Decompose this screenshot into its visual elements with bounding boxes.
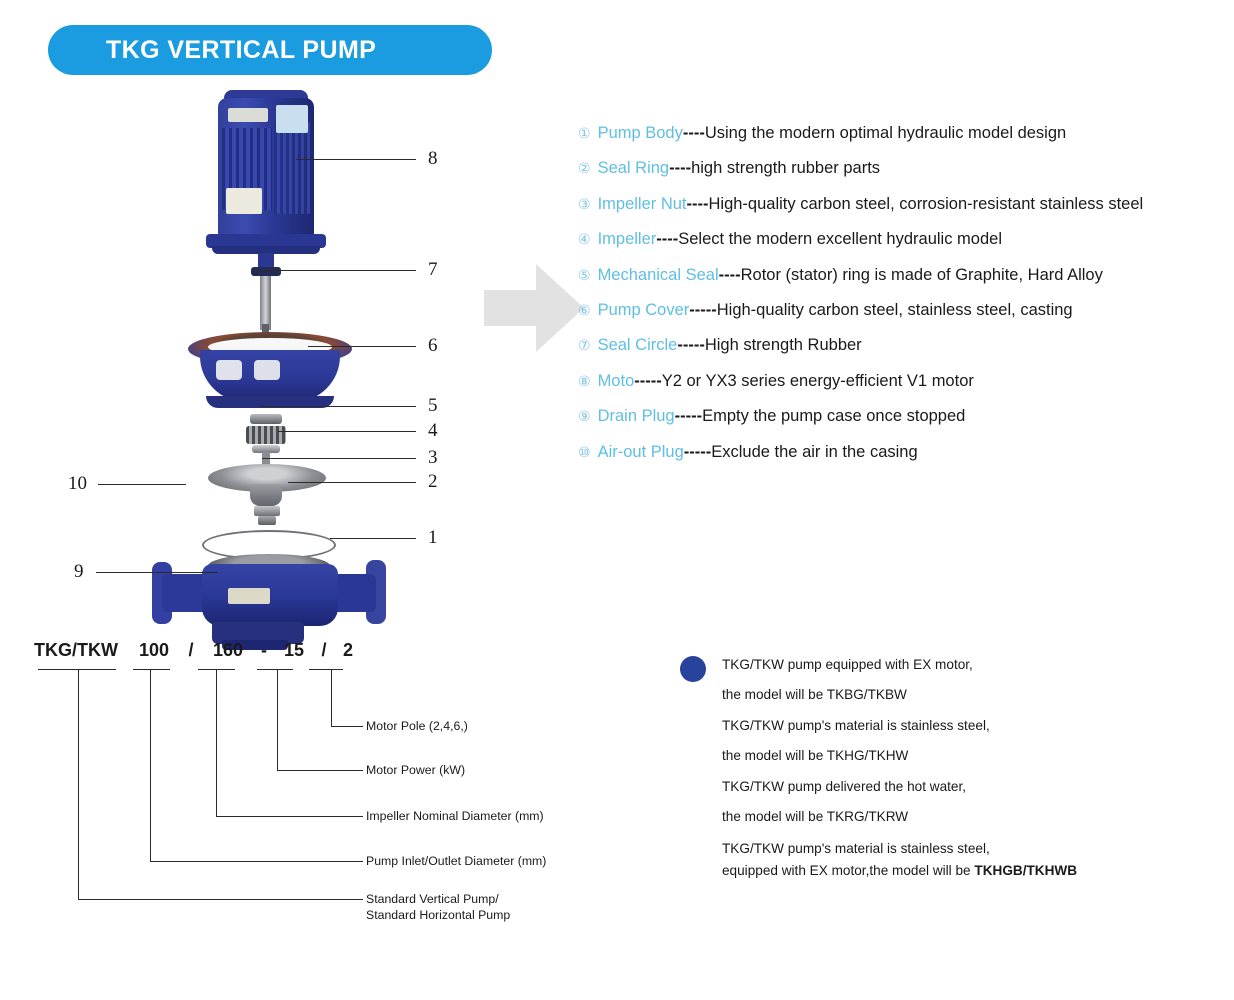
model-desc-series-2: Standard Horizontal Pump: [366, 907, 510, 923]
model-desc-pole: Motor Pole (2,4,6,): [366, 718, 468, 734]
note-line: TKG/TKW pump equipped with EX motor,: [722, 650, 1220, 680]
callout-number-2: 2: [428, 471, 438, 493]
motor-terminal-box: [226, 188, 262, 214]
legend-part-name: Moto: [598, 372, 635, 391]
legend-item: ⑦ Seal Circle ----- High strength Rubber: [578, 336, 1228, 355]
impeller-hub: [250, 484, 282, 506]
callout-number-3: 3: [428, 447, 438, 469]
callout-number-9: 9: [74, 561, 84, 583]
callout-line-10: [98, 484, 186, 485]
legend-description: High strength Rubber: [705, 336, 862, 355]
page-title-banner: TKG VERTICAL PUMP: [48, 25, 492, 75]
legend-number: ⑩: [578, 445, 591, 459]
pump-cover-window-right: [254, 360, 280, 380]
note-line: TKG/TKW pump's material is stainless ste…: [722, 711, 1220, 741]
legend-number: ③: [578, 197, 591, 211]
legend-description: Y2 or YX3 series energy-efficient V1 mot…: [662, 372, 974, 391]
leader-run-inlet: [150, 861, 363, 862]
motor-cooling-fins-right: [274, 122, 310, 214]
legend-dash: -----: [634, 372, 661, 391]
legend-part-name: Drain Plug: [598, 407, 675, 426]
callout-line-3: [262, 458, 416, 459]
callout-line-5: [258, 406, 416, 407]
legend-item: ④ Impeller ---- Select the modern excell…: [578, 230, 1228, 249]
model-desc-series-1: Standard Vertical Pump/: [366, 891, 499, 907]
note-line: the model will be TKHG/TKHW: [722, 741, 1220, 771]
legend-description: High-quality carbon steel, stainless ste…: [717, 301, 1073, 320]
legend-item: ⑤ Mechanical Seal ---- Rotor (stator) ri…: [578, 266, 1228, 285]
callout-line-2: [288, 482, 416, 483]
note-line: TKG/TKW pump's material is stainless ste…: [722, 838, 1220, 860]
legend-dash: -----: [689, 301, 716, 320]
callout-number-1: 1: [428, 527, 438, 549]
model-variant-notes: TKG/TKW pump equipped with EX motor, the…: [680, 650, 1220, 882]
code-separator-1: /: [178, 640, 204, 661]
legend-number: ①: [578, 126, 591, 140]
legend-description: Using the modern optimal hydraulic model…: [705, 124, 1066, 143]
model-code-string: TKG/TKW 100 / 160 - 15 / 2: [34, 640, 360, 661]
callout-number-8: 8: [428, 148, 438, 170]
motor-nameplate-top: [228, 108, 268, 122]
code-separator-2: -: [252, 640, 276, 661]
impeller-nut: [254, 506, 280, 516]
note-line: the model will be TKRG/TKRW: [722, 802, 1220, 832]
pump-body-nameplate: [228, 588, 270, 604]
code-segment-inlet: 100: [130, 640, 178, 661]
legend-number: ⑧: [578, 374, 591, 388]
callout-number-5: 5: [428, 395, 438, 417]
legend-part-name: Seal Ring: [598, 159, 670, 178]
code-segment-power: 15: [276, 640, 312, 661]
legend-part-name: Impeller: [598, 230, 657, 249]
code-segment-pole: 2: [336, 640, 360, 661]
legend-number: ⑨: [578, 409, 591, 423]
legend-number: ⑦: [578, 338, 591, 352]
legend-dash: ----: [656, 230, 678, 249]
legend-number: ④: [578, 232, 591, 246]
legend-dash: -----: [675, 407, 702, 426]
legend-item: ③ Impeller Nut ---- High-quality carbon …: [578, 195, 1228, 214]
callout-number-7: 7: [428, 259, 438, 281]
legend-item: ⑩ Air-out Plug ----- Exclude the air in …: [578, 443, 1228, 462]
callout-line-1: [330, 538, 416, 539]
code-underline-series: [38, 669, 116, 670]
bullet-dot-icon: [680, 656, 706, 682]
legend-number: ⑥: [578, 303, 591, 317]
code-segment-impeller: 160: [204, 640, 252, 661]
callout-line-6: [308, 346, 416, 347]
legend-dash: ----: [669, 159, 691, 178]
legend-part-name: Pump Cover: [598, 301, 690, 320]
legend-number: ⑤: [578, 268, 591, 282]
callout-number-6: 6: [428, 335, 438, 357]
legend-item: ② Seal Ring ---- high strength rubber pa…: [578, 159, 1228, 178]
motor-shaft: [260, 276, 271, 330]
legend-dash: ----: [683, 124, 705, 143]
legend-part-name: Air-out Plug: [598, 443, 684, 462]
legend-description: Rotor (stator) ring is made of Graphite,…: [741, 266, 1103, 285]
legend-item: ⑨ Drain Plug ----- Empty the pump case o…: [578, 407, 1228, 426]
mechanical-seal-body: [246, 426, 286, 444]
note-model-bold: TKHGB/TKHWB: [974, 863, 1077, 878]
callout-number-10: 10: [68, 473, 87, 495]
seal-circle-collar: [251, 267, 281, 276]
legend-number: ②: [578, 161, 591, 175]
legend-part-name: Seal Circle: [598, 336, 678, 355]
legend-dash: -----: [677, 336, 704, 355]
leader-run-impeller: [216, 816, 363, 817]
pump-cover-window-left: [216, 360, 242, 380]
legend-item: ⑥ Pump Cover ----- High-quality carbon s…: [578, 301, 1228, 320]
leader-drop-impeller: [216, 669, 217, 817]
legend-description: Select the modern excellent hydraulic mo…: [678, 230, 1002, 249]
callout-line-8: [296, 159, 416, 160]
motor-nameplate-side: [276, 105, 308, 133]
model-desc-inlet: Pump Inlet/Outlet Diameter (mm): [366, 853, 546, 869]
leader-run-power: [277, 770, 363, 771]
code-underline-pole: [309, 669, 343, 670]
leader-drop-series: [78, 669, 79, 900]
pump-body: [202, 564, 338, 626]
callout-line-7: [258, 270, 416, 271]
model-code-breakdown: TKG/TKW 100 / 160 - 15 / 2 Motor Pole (2…: [0, 628, 620, 958]
legend-description: high strength rubber parts: [691, 159, 880, 178]
leader-drop-pole: [331, 669, 332, 727]
note-line: TKG/TKW pump delivered the hot water,: [722, 772, 1220, 802]
legend-part-name: Impeller Nut: [598, 195, 687, 214]
page-title: TKG VERTICAL PUMP: [106, 36, 376, 65]
parts-legend: ① Pump Body ---- Using the modern optima…: [578, 124, 1228, 478]
model-desc-power: Motor Power (kW): [366, 762, 465, 778]
code-separator-3: /: [312, 640, 336, 661]
legend-description: High-quality carbon steel, corrosion-res…: [709, 195, 1144, 214]
legend-dash: ----: [719, 266, 741, 285]
legend-description: Exclude the air in the casing: [711, 443, 917, 462]
right-arrow-icon: [484, 262, 584, 354]
leader-run-pole: [331, 726, 363, 727]
callout-line-4: [278, 431, 416, 432]
legend-part-name: Pump Body: [598, 124, 683, 143]
code-segment-series: TKG/TKW: [34, 640, 130, 661]
legend-item: ⑧ Moto ----- Y2 or YX3 series energy-eff…: [578, 372, 1228, 391]
impeller-nut-washer: [258, 516, 276, 525]
note-line: the model will be TKBG/TKBW: [722, 680, 1220, 710]
note-line-composite: equipped with EX motor,the model will be…: [722, 860, 1220, 882]
code-underline-inlet: [133, 669, 170, 670]
model-desc-impeller: Impeller Nominal Diameter (mm): [366, 808, 544, 824]
legend-description: Empty the pump case once stopped: [702, 407, 965, 426]
legend-part-name: Mechanical Seal: [598, 266, 719, 285]
callout-number-4: 4: [428, 420, 438, 442]
leader-run-series: [78, 899, 363, 900]
leader-drop-power: [277, 669, 278, 771]
callout-line-9: [96, 572, 218, 573]
leader-drop-inlet: [150, 669, 151, 862]
code-underline-power: [257, 669, 293, 670]
legend-dash: ----: [687, 195, 709, 214]
legend-item: ① Pump Body ---- Using the modern optima…: [578, 124, 1228, 143]
mechanical-seal-upper: [250, 414, 282, 424]
legend-dash: -----: [684, 443, 711, 462]
note-text: equipped with EX motor,the model will be: [722, 863, 974, 878]
